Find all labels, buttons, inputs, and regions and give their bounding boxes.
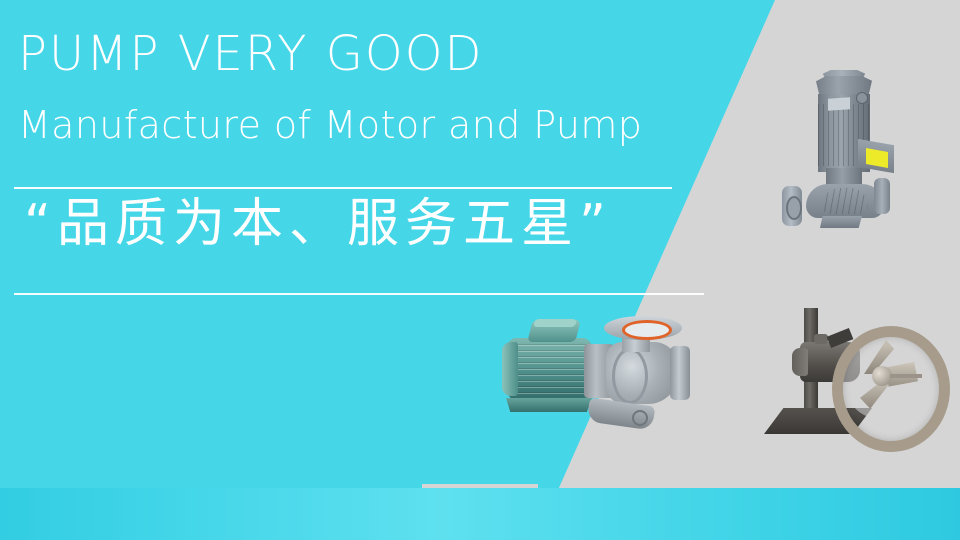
product-image-submersible-mixer [760,300,950,450]
mixer-motor-end-cap [792,348,808,376]
volute-ribs [822,188,868,214]
divider-line-top [14,187,672,189]
banner-headline: PUMP VERY GOOD [18,30,483,78]
motor-base-rail [506,398,592,412]
product-image-vertical-inline-pump [770,58,910,238]
cable-gland [814,334,828,344]
motor-cooling-fins [514,344,586,394]
flange-gasket [622,320,672,340]
suction-flange-bore [786,196,802,220]
banner-subheadline: Manufacture of Motor and Pump [18,106,642,144]
casing-volute-ring [612,348,648,404]
fan-cover-icon [856,92,868,104]
foot-bolt-hole [632,410,648,426]
pump-base-foot [820,216,862,228]
propeller-shroud-ring [832,326,950,452]
terminal-box-lid [533,319,577,327]
discharge-flange [874,178,890,214]
motor-nameplate [828,97,850,111]
divider-line-bottom [14,293,704,295]
promo-banner: PUMP VERY GOOD Manufacture of Motor and … [0,0,960,540]
bottom-cyan-band [0,488,960,540]
suction-flange [670,346,690,400]
motor-end-cap [502,342,518,396]
product-image-horizontal-centrifugal-pump [500,318,730,458]
banner-slogan: “品质为本、服务五星” [24,198,612,250]
